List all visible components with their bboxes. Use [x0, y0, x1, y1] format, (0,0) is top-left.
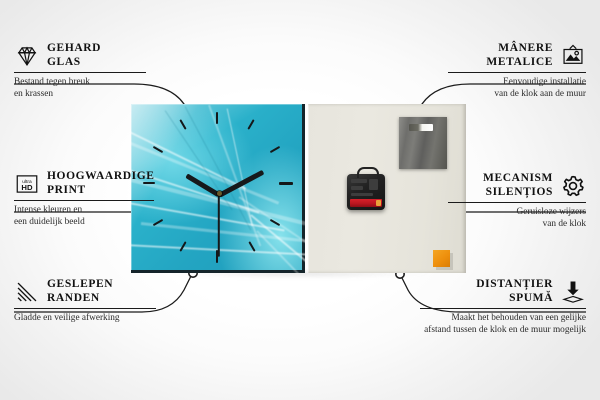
- ultra-hd-icon: ultra HD: [14, 171, 40, 197]
- infographic-canvas: GEHARD GLAS Bestand tegen breuk en krass…: [0, 0, 600, 400]
- feature-description: Maakt het behouden van een gelijke afsta…: [386, 312, 586, 336]
- clock-center-pivot: [217, 191, 222, 196]
- feature-rule: [420, 308, 586, 309]
- clock-mechanism: [347, 174, 385, 210]
- feature-rule: [14, 308, 156, 309]
- mechanism-hook: [357, 167, 379, 178]
- feature-title: GEHARD GLAS: [47, 42, 101, 69]
- feature-rule: [448, 202, 586, 203]
- feature-title: DISTANȚIER SPUMĂ: [476, 278, 553, 305]
- feature-header: DISTANȚIER SPUMĂ: [386, 278, 586, 305]
- foam-spacer: [433, 250, 450, 267]
- feature-description: Eenvoudige installatie van de klok aan d…: [414, 76, 586, 100]
- feature-geslepen-randen: GESLEPEN RANDEN Gladde en veilige afwerk…: [14, 278, 194, 324]
- clock-tick: [179, 119, 186, 130]
- diamond-icon: [14, 43, 40, 69]
- feature-header: GESLEPEN RANDEN: [14, 278, 194, 305]
- feature-description: Geruisloze wijzers van de klok: [414, 206, 586, 230]
- feature-header: ultra HD HOOGWAARDIGE PRINT: [14, 170, 192, 197]
- feature-rule: [448, 72, 586, 73]
- feature-header: MECANISM SILENȚIOS: [414, 172, 586, 199]
- second-hand: [218, 195, 220, 257]
- battery-terminal: [376, 200, 381, 206]
- feature-title: MÂNERE METALICE: [486, 42, 553, 69]
- feature-header: GEHARD GLAS: [14, 42, 186, 69]
- gear-icon: [560, 173, 586, 199]
- feature-header: MÂNERE METALICE: [414, 42, 586, 69]
- picture-hanger-icon: [560, 43, 586, 69]
- feature-title: GESLEPEN RANDEN: [47, 278, 113, 305]
- hd-label: HD: [21, 183, 33, 192]
- battery: [350, 199, 382, 207]
- feature-description: Gladde en veilige afwerking: [14, 312, 194, 324]
- feature-hoogwaardige-print: ultra HD HOOGWAARDIGE PRINT Intense kleu…: [14, 170, 192, 228]
- feature-title: MECANISM SILENȚIOS: [483, 172, 553, 199]
- clock-tick: [279, 182, 293, 185]
- feature-gehard-glas: GEHARD GLAS Bestand tegen breuk en krass…: [14, 42, 186, 100]
- feature-rule: [14, 72, 146, 73]
- clock-tick: [247, 119, 254, 130]
- feature-manere-metalice: MÂNERE METALICE Eenvoudige installatie v…: [414, 42, 586, 100]
- feature-title: HOOGWAARDIGE PRINT: [47, 170, 155, 197]
- beveled-edge-icon: [14, 279, 40, 305]
- clock-tick: [216, 112, 218, 124]
- feature-distantier-spuma: DISTANȚIER SPUMĂ Maakt het behouden van …: [386, 278, 586, 336]
- metal-hanger-plate: [399, 117, 447, 169]
- feature-description: Bestand tegen breuk en krassen: [14, 76, 186, 100]
- spacer-arrow-icon: [560, 279, 586, 305]
- feature-mecanism-silentios: MECANISM SILENȚIOS Geruisloze wijzers va…: [414, 172, 586, 230]
- feature-rule: [14, 200, 154, 201]
- hanger-keyhole-slot: [409, 124, 433, 131]
- feature-description: Intense kleuren en een duidelijk beeld: [14, 204, 192, 228]
- clock-tick: [270, 146, 281, 153]
